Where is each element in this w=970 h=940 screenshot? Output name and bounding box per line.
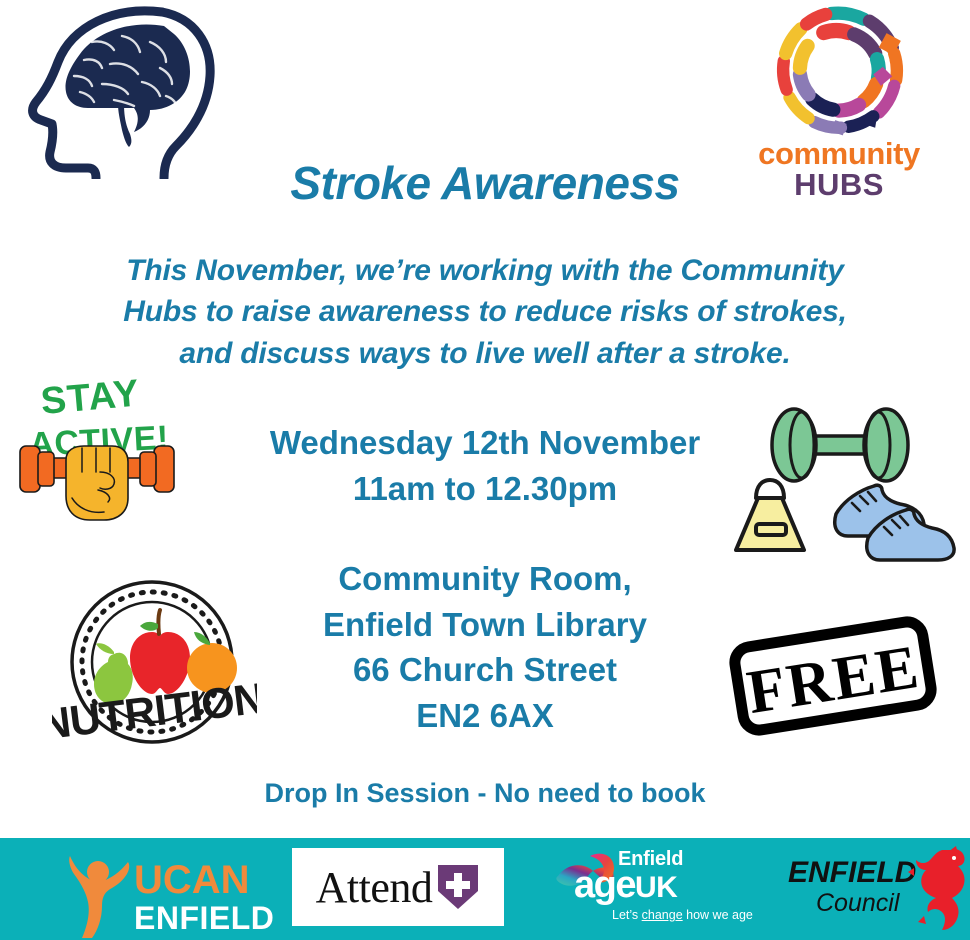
poster-canvas: community HUBS Stroke Awareness This Nov… (0, 0, 970, 940)
age-uk-wordmark: ageUK (574, 866, 677, 904)
attend-shield-icon (436, 863, 480, 911)
dumbbell-icon (772, 409, 908, 481)
ucan-word-ucan: UCAN (134, 860, 274, 900)
intro-line-3: and discuss ways to live well after a st… (85, 333, 885, 374)
free-stamp-icon: FREE (726, 612, 941, 740)
nutrition-badge-icon: NUTRITION (52, 576, 257, 754)
enfield-council-logo: ENFIELD Council (786, 846, 964, 932)
age-uk-tagline-before: Let’s (612, 908, 642, 922)
brain-head-profile-icon (14, 4, 224, 179)
council-word-council: Council (816, 891, 916, 916)
ucan-enfield-logo: UCAN ENFIELD (48, 846, 263, 938)
intro-line-2: Hubs to raise awareness to reduce risks … (85, 291, 885, 332)
kettlebell-icon (736, 480, 804, 550)
attend-logo: Attend (292, 848, 504, 926)
age-uk-word-age: age (574, 864, 635, 906)
council-dragon-emblem-icon (908, 846, 970, 932)
ucan-wordmark: UCAN ENFIELD (134, 860, 274, 934)
ucan-word-enfield: ENFIELD (134, 902, 274, 934)
footer-partner-bar: UCAN ENFIELD Attend (0, 838, 970, 940)
fitness-equipment-icon (718, 402, 958, 572)
intro-paragraph: This November, we’re working with the Co… (85, 250, 885, 374)
age-uk-word-uk: UK (635, 871, 677, 904)
age-uk-tagline-underlined: change (642, 908, 683, 922)
intro-line-1: This November, we’re working with the Co… (85, 250, 885, 291)
attend-wordmark: Attend (316, 862, 433, 913)
page-title: Stroke Awareness (0, 156, 970, 210)
trainers-icon (835, 485, 954, 560)
council-word-enfield: ENFIELD (788, 858, 916, 888)
drop-in-note: Drop In Session - No need to book (0, 778, 970, 809)
age-uk-enfield-logo: Enfield ageUK Let’s change how we age (552, 846, 742, 930)
stay-active-line-1: STAY (39, 372, 141, 422)
council-wordmark: ENFIELD Council (788, 858, 916, 916)
age-uk-tagline: Let’s change how we age (612, 908, 753, 922)
stay-active-dumbbell-icon: STAY ACTIVE! (16, 372, 176, 532)
hubs-ring-icon (756, 4, 922, 137)
age-uk-tagline-after: how we age (683, 908, 753, 922)
